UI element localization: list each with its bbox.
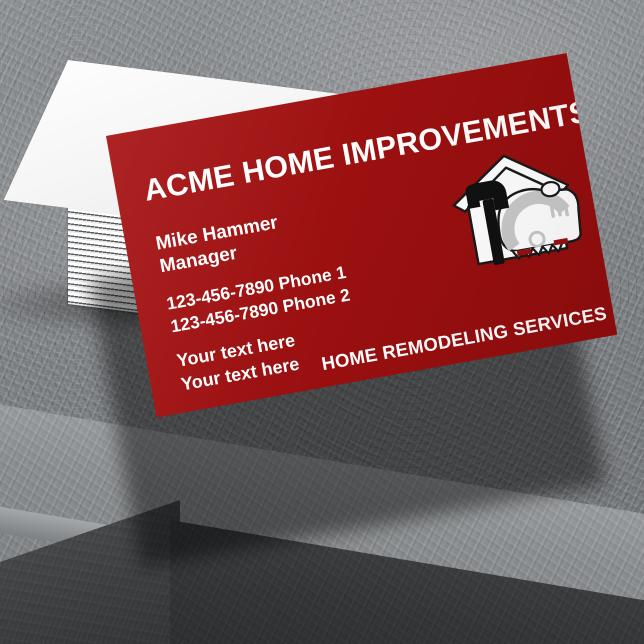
placeholder-text-block: Your text here Your text here <box>175 328 301 396</box>
logo-svg <box>442 140 594 283</box>
business-card-mockup-scene: ACME HOME IMPROVEMENTS Mike Hammer Manag… <box>0 0 644 644</box>
house-hammer-saw-logo <box>442 140 594 283</box>
